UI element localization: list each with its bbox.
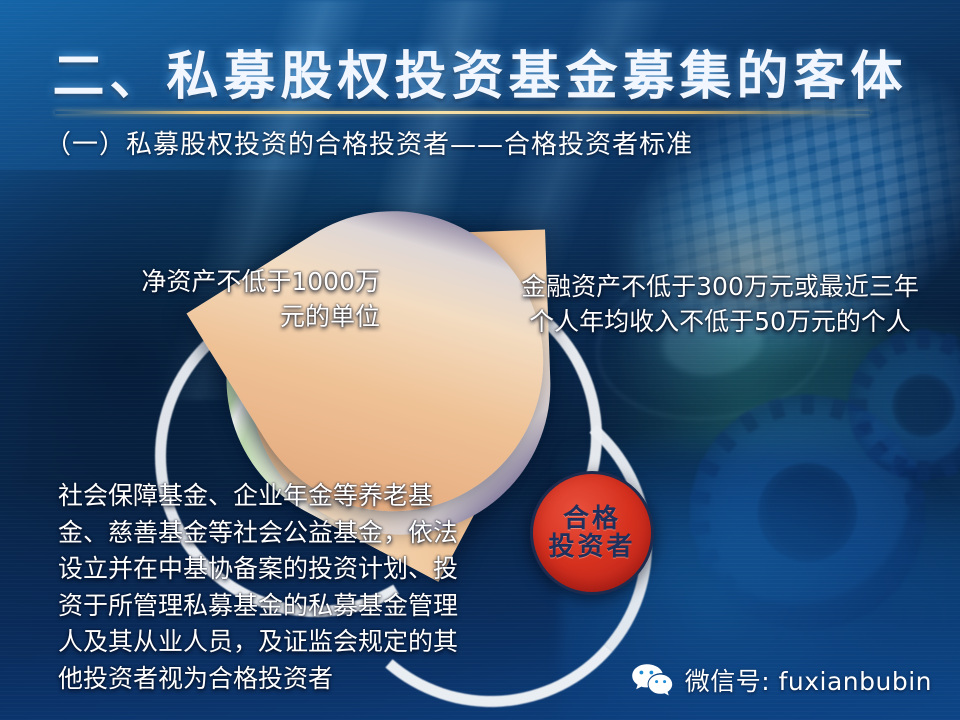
callout-label-right: 金融资产不低于300万元或最近三年个人年均收入不低于50万元的个人 — [510, 270, 930, 339]
callout-label-left: 净资产不低于1000万元的单位 — [120, 265, 380, 334]
wechat-watermark: 微信号: fuxianbubin — [631, 662, 932, 698]
wechat-icon — [631, 663, 673, 697]
slide-canvas: 二、私募股权投资基金募集的客体 （一）私募股权投资的合格投资者——合格投资者标准… — [0, 0, 960, 720]
wechat-id-text: 微信号: fuxianbubin — [685, 662, 932, 698]
callout-label-bottom: 社会保障基金、企业年金等养老基金、慈善基金等社会公益基金，依法设立并在中基协备案… — [58, 478, 458, 697]
pinwheel-hub-qualified-investor[interactable]: 合格 投资者 — [530, 471, 654, 595]
hub-label-line1: 合格 — [563, 505, 621, 533]
hub-label-line2: 投资者 — [548, 533, 635, 561]
